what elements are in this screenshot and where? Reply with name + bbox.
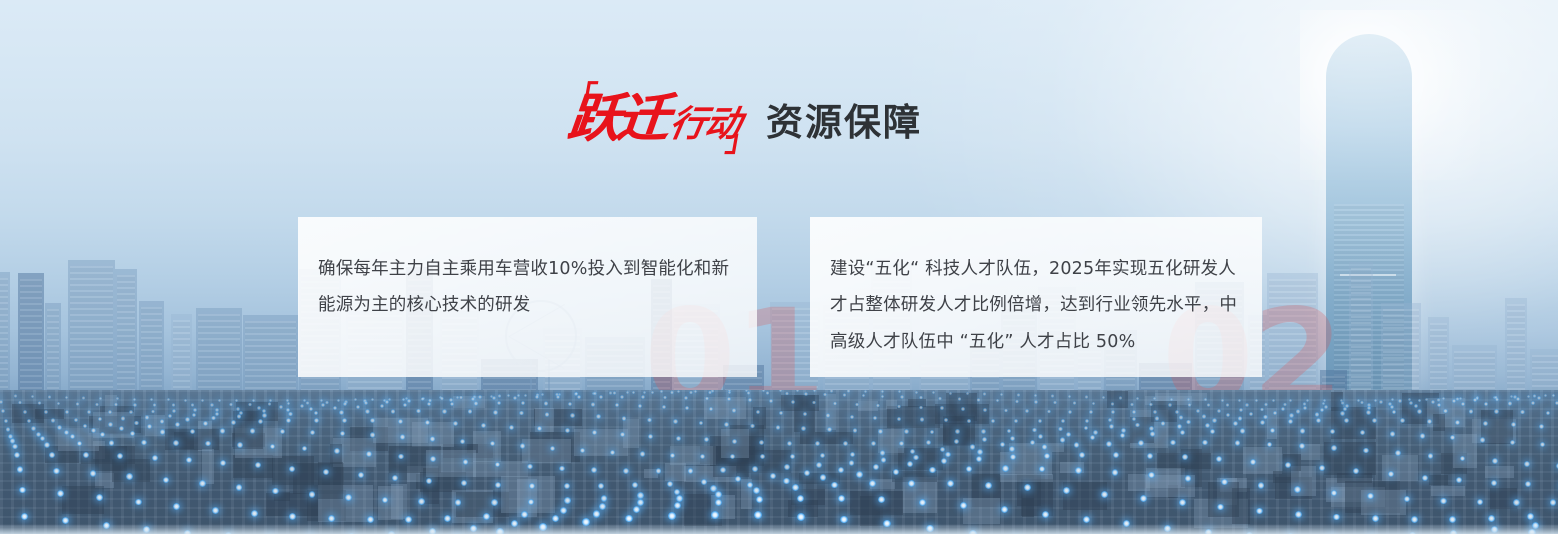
network-node [382, 497, 389, 504]
network-node [1217, 504, 1224, 511]
network-node [632, 391, 636, 395]
network-node [1066, 432, 1071, 437]
network-node [1138, 440, 1144, 446]
network-node [370, 432, 375, 437]
network-node [1456, 477, 1462, 483]
network-node [1550, 499, 1557, 506]
network-node [398, 419, 403, 424]
network-node [633, 506, 640, 513]
network-node [668, 512, 676, 520]
network-node [873, 416, 877, 420]
network-node [1495, 398, 1499, 402]
network-node [760, 454, 765, 459]
network-node [1186, 420, 1191, 425]
content-card-01: 确保每年主力自主乘用车营收10%投入到智能化和新能源为主的核心技术的研发 [298, 217, 757, 377]
network-node [257, 406, 261, 410]
network-node [855, 403, 859, 407]
network-node [1316, 418, 1321, 423]
network-node [1324, 405, 1328, 409]
network-node [483, 513, 490, 520]
network-node [869, 480, 876, 487]
network-node [596, 414, 601, 419]
network-node [1009, 446, 1015, 452]
network-node [288, 412, 293, 417]
network-node [1042, 511, 1049, 518]
network-node [862, 394, 866, 398]
network-node [983, 408, 987, 412]
network-node [1079, 452, 1085, 458]
network-node [21, 513, 28, 520]
network-node [1170, 398, 1173, 401]
network-node [762, 390, 765, 392]
network-node [1456, 397, 1460, 401]
network-node [1235, 440, 1241, 446]
network-node [897, 405, 901, 409]
network-node [920, 417, 924, 421]
network-node [779, 390, 782, 392]
network-node [1256, 508, 1263, 515]
network-node [1442, 397, 1445, 400]
network-node [954, 439, 959, 444]
network-node [426, 478, 432, 484]
network-node [1136, 397, 1139, 400]
network-node [1226, 403, 1230, 407]
network-node [1437, 398, 1441, 402]
network-node [1417, 409, 1422, 414]
network-node [495, 482, 501, 488]
network-node [343, 402, 347, 406]
network-node [392, 475, 398, 481]
network-node [18, 401, 22, 405]
network-node [1084, 426, 1089, 431]
network-node [1544, 394, 1547, 397]
network-node [1155, 416, 1159, 420]
network-node [497, 401, 501, 405]
network-node [430, 436, 435, 441]
network-node [545, 412, 550, 417]
network-node [168, 414, 172, 418]
network-node [801, 426, 806, 431]
network-node [450, 402, 454, 406]
network-node [108, 410, 112, 414]
network-node [900, 395, 904, 399]
network-node [310, 430, 315, 435]
network-node [455, 499, 462, 506]
network-node [371, 398, 374, 401]
network-node [1212, 418, 1217, 423]
network-node [1263, 415, 1268, 420]
network-node [74, 418, 78, 422]
network-node [876, 404, 880, 408]
network-node [40, 436, 45, 441]
network-node [1540, 442, 1545, 447]
network-node [1511, 422, 1516, 427]
network-node [167, 398, 170, 401]
network-node [1330, 429, 1335, 434]
network-node [941, 458, 947, 464]
network-node [152, 455, 158, 461]
network-node [1449, 516, 1456, 523]
network-node [1240, 428, 1245, 433]
network-node [700, 454, 705, 459]
network-node [96, 494, 103, 501]
network-node [1175, 410, 1179, 414]
building [115, 269, 137, 400]
network-node [981, 429, 986, 434]
building [45, 303, 61, 400]
network-node [1546, 411, 1551, 416]
network-node [640, 451, 645, 456]
network-node [1204, 398, 1207, 401]
network-node [637, 492, 644, 499]
network-node [1390, 405, 1394, 409]
network-node [756, 410, 760, 414]
network-node [833, 402, 837, 406]
network-node [915, 391, 918, 394]
network-node [1295, 511, 1302, 518]
network-node [676, 495, 683, 502]
network-node [1042, 444, 1048, 450]
network-node [704, 437, 709, 442]
network-node [610, 450, 615, 455]
network-node [1258, 482, 1265, 489]
network-node [1205, 423, 1210, 428]
network-node [1068, 410, 1072, 414]
network-node [172, 409, 176, 413]
network-node [601, 495, 608, 502]
network-node [1119, 396, 1122, 399]
network-node [1260, 420, 1265, 425]
network-node [623, 468, 629, 474]
network-node [1217, 409, 1221, 413]
network-node [126, 473, 133, 480]
network-node [1398, 399, 1402, 403]
network-node [958, 397, 962, 401]
network-node [116, 397, 119, 400]
network-node [651, 391, 655, 395]
network-node [314, 418, 319, 423]
network-node [1207, 403, 1211, 407]
network-node [728, 391, 732, 395]
network-node [1007, 429, 1012, 434]
network-node [1010, 436, 1015, 441]
network-node [385, 400, 389, 404]
network-node [699, 421, 704, 426]
yueqian-action-logo: 「 跃迁 行动 」 [568, 93, 740, 145]
network-node [632, 482, 638, 488]
network-node [938, 397, 942, 401]
network-node [134, 421, 139, 426]
network-node [873, 464, 879, 470]
network-node [1025, 409, 1029, 413]
network-node [977, 449, 983, 455]
network-node [160, 419, 165, 424]
network-node [6, 427, 11, 432]
network-node [1044, 453, 1050, 459]
network-node [871, 441, 876, 446]
network-node [1400, 418, 1405, 423]
network-node [1344, 418, 1349, 423]
network-node [850, 415, 854, 419]
network-node [65, 410, 69, 414]
network-node [1161, 421, 1166, 426]
network-node [1170, 440, 1176, 446]
network-node [509, 425, 514, 430]
network-node [1420, 433, 1425, 438]
network-node [564, 497, 571, 504]
network-node [776, 425, 781, 430]
network-node [215, 412, 219, 416]
network-node [145, 415, 149, 419]
network-node [492, 396, 496, 400]
network-node [944, 418, 948, 422]
network-node [1168, 403, 1172, 407]
network-node [31, 426, 36, 431]
network-node [1085, 395, 1088, 398]
network-node [648, 434, 653, 439]
network-node [1092, 402, 1096, 406]
network-node [402, 398, 406, 402]
network-node [711, 511, 719, 519]
network-node [528, 499, 535, 506]
network-node [337, 399, 340, 402]
network-node [391, 409, 396, 414]
network-node [1188, 403, 1192, 407]
network-node [342, 418, 347, 423]
network-node [1341, 401, 1345, 405]
network-node [345, 494, 352, 501]
network-node [544, 401, 548, 405]
network-node [1108, 418, 1112, 422]
network-node [667, 481, 673, 487]
network-node [64, 430, 69, 435]
network-node [135, 499, 142, 506]
network-node [364, 401, 368, 405]
network-node [904, 429, 909, 434]
network-node [961, 407, 965, 411]
network-node [251, 510, 258, 517]
network-node [1379, 400, 1383, 404]
network-node [191, 403, 195, 407]
network-node [804, 470, 810, 476]
network-node [91, 428, 96, 433]
building [1428, 317, 1449, 400]
network-node [970, 444, 975, 449]
network-node [785, 392, 789, 396]
network-node [205, 441, 211, 447]
network-node [262, 413, 267, 418]
network-node [1090, 435, 1095, 440]
network-node [898, 390, 901, 393]
network-node [211, 416, 216, 421]
network-node [556, 395, 560, 399]
network-node [1249, 412, 1253, 416]
network-node [529, 483, 535, 489]
network-node [1233, 421, 1238, 426]
network-node [320, 399, 323, 402]
network-node [791, 400, 795, 404]
network-node [919, 499, 926, 506]
network-node [220, 460, 226, 466]
network-node [1422, 475, 1428, 481]
network-node [57, 490, 64, 497]
card-text: 建设“五化“ 科技人才队伍，2025年实现五化研发人才占整体研发人才比例倍增，达… [830, 251, 1240, 360]
network-node [427, 402, 431, 406]
network-node [908, 480, 915, 487]
network-node [660, 390, 663, 393]
network-node [966, 466, 973, 473]
network-node [732, 439, 737, 444]
network-node [1039, 466, 1046, 473]
network-node [787, 441, 792, 446]
network-node [76, 402, 80, 406]
network-node [804, 392, 808, 396]
network-node [1513, 499, 1520, 506]
network-node [493, 410, 498, 415]
network-node [1153, 397, 1156, 400]
bottom-fade [0, 524, 1558, 534]
network-node [1319, 465, 1325, 471]
network-node [940, 406, 944, 410]
network-node [843, 441, 848, 446]
network-node [996, 399, 1000, 403]
network-node [1148, 472, 1155, 479]
network-node [1177, 424, 1182, 429]
network-node [520, 443, 525, 448]
network-node [521, 401, 525, 405]
network-node [1537, 396, 1541, 400]
network-node [153, 403, 157, 407]
network-node [65, 396, 68, 399]
network-node [843, 393, 847, 397]
network-node [626, 391, 629, 394]
network-node [770, 473, 776, 479]
network-node [1260, 408, 1264, 412]
network-node [1460, 456, 1466, 462]
network-node [400, 434, 405, 439]
network-node [708, 391, 712, 395]
network-node [38, 401, 42, 405]
network-node [1147, 453, 1153, 459]
network-node [1363, 448, 1369, 454]
network-node [827, 427, 832, 432]
network-node [325, 401, 329, 405]
network-node [670, 453, 675, 458]
network-node [248, 403, 252, 407]
network-node [1425, 398, 1428, 401]
network-node [366, 451, 372, 457]
network-node [1032, 428, 1037, 433]
network-node [983, 392, 986, 395]
network-node [289, 466, 295, 472]
network-node [926, 440, 931, 445]
network-node [568, 402, 572, 406]
network-node [720, 467, 726, 473]
network-node [121, 416, 125, 420]
network-node [1483, 421, 1488, 426]
network-node [1315, 412, 1320, 417]
network-node [1226, 413, 1230, 417]
network-node [565, 428, 570, 433]
network-node [796, 390, 799, 392]
network-node [453, 421, 458, 426]
network-node [580, 448, 585, 453]
network-node [1427, 419, 1432, 424]
network-node [1264, 403, 1268, 407]
network-node [1409, 401, 1413, 405]
network-node [481, 423, 486, 428]
network-node [732, 408, 736, 412]
network-node [913, 455, 919, 461]
network-node [1202, 440, 1208, 446]
network-node [442, 409, 447, 414]
network-node [991, 419, 995, 423]
network-node [1300, 428, 1305, 433]
building [1349, 262, 1373, 400]
network-node [192, 413, 196, 417]
network-node [643, 391, 646, 394]
network-node [1306, 399, 1309, 402]
network-node [1469, 409, 1474, 414]
network-node [498, 394, 502, 398]
network-node [160, 429, 165, 434]
network-node [1221, 479, 1228, 486]
network-node [1360, 401, 1364, 405]
network-node [976, 456, 982, 462]
network-node [1111, 402, 1115, 406]
network-node [478, 395, 482, 399]
network-node [1093, 430, 1098, 435]
network-node [797, 513, 805, 521]
network-node [1180, 430, 1185, 435]
network-node [1085, 419, 1089, 423]
network-node [358, 472, 364, 478]
network-node [1221, 399, 1224, 402]
network-node [1418, 399, 1422, 403]
network-node [334, 448, 340, 454]
network-node [535, 395, 539, 399]
network-node [881, 390, 884, 393]
network-node [1372, 515, 1379, 522]
network-node [831, 482, 838, 489]
network-node [184, 399, 187, 402]
network-node [750, 424, 755, 429]
network-node [190, 429, 195, 434]
network-node [10, 438, 15, 443]
network-node [1484, 402, 1488, 406]
network-node [1461, 402, 1465, 406]
network-node [1281, 407, 1285, 411]
network-node [593, 510, 600, 517]
network-node [99, 397, 102, 400]
network-node [620, 395, 624, 399]
network-node [87, 410, 91, 414]
network-node [323, 469, 329, 475]
network-node [306, 401, 310, 405]
network-node [220, 428, 225, 433]
network-node [1061, 419, 1065, 423]
network-node [173, 503, 180, 510]
network-node [893, 469, 900, 476]
building [196, 308, 242, 400]
network-node [747, 482, 754, 489]
network-node [966, 392, 969, 395]
network-node [1038, 434, 1043, 439]
network-node [44, 442, 50, 448]
network-node [1004, 409, 1008, 413]
network-node [1289, 399, 1292, 402]
network-node [77, 441, 83, 447]
